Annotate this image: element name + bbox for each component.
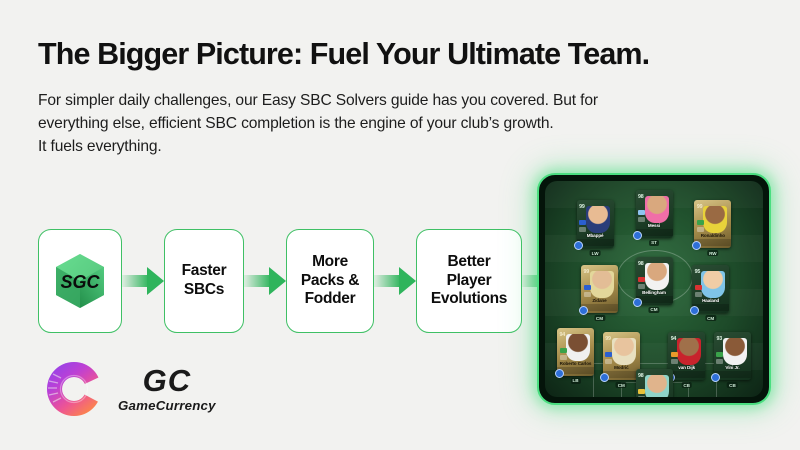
player-portrait bbox=[586, 206, 610, 233]
page-title: The Bigger Picture: Fuel Your Ultimate T… bbox=[38, 38, 768, 70]
gamecurrency-circle-logo bbox=[40, 355, 108, 423]
gc-initials: GC bbox=[143, 365, 192, 396]
player-portrait bbox=[612, 338, 636, 365]
club-badge-icon bbox=[579, 227, 586, 232]
club-badge-icon bbox=[697, 227, 704, 232]
player-card[interactable]: 93Vini Jr. bbox=[714, 332, 751, 380]
arrow-right-icon bbox=[374, 264, 416, 298]
nation-flag-icon bbox=[579, 220, 586, 225]
player-card[interactable]: 98Donnarumma bbox=[636, 369, 673, 397]
subtitle-line-3: It fuels everything. bbox=[38, 136, 738, 159]
chemistry-indicator-icon bbox=[633, 231, 642, 240]
player-card[interactable]: 95Haaland bbox=[692, 265, 729, 313]
club-badge-icon bbox=[638, 284, 645, 289]
nation-flag-icon bbox=[638, 277, 645, 282]
club-badge-icon bbox=[605, 359, 612, 364]
flow-step-line: SBCs bbox=[182, 281, 227, 300]
player-rating: 94 bbox=[560, 332, 566, 338]
flow-step-label: Better Player Evolutions bbox=[427, 253, 511, 309]
player-portrait bbox=[703, 206, 727, 233]
player-position-label: CB bbox=[727, 382, 738, 388]
ultimate-team-squad-screenshot: 99MbappéLW98MessiST99RonaldinhoRW99Zidan… bbox=[537, 173, 771, 405]
player-position-label: CM bbox=[648, 307, 659, 313]
svg-text:SGC: SGC bbox=[60, 272, 100, 292]
nation-flag-icon bbox=[716, 352, 723, 357]
player-portrait bbox=[723, 338, 747, 365]
player-rating: 95 bbox=[695, 269, 701, 275]
chemistry-indicator-icon bbox=[690, 306, 699, 315]
flow-step-label: Faster SBCs bbox=[178, 262, 231, 299]
flow-step-faster-sbcs: Faster SBCs bbox=[164, 229, 244, 333]
player-rating: 98 bbox=[638, 194, 644, 200]
player-name: Vini Jr. bbox=[714, 365, 751, 370]
player-name: Modrić bbox=[603, 365, 640, 370]
player-rating: 98 bbox=[638, 261, 644, 267]
player-position-label: LW bbox=[590, 250, 601, 256]
player-name: Bellingham bbox=[636, 290, 673, 295]
subtitle-line-1: For simpler daily challenges, our Easy S… bbox=[38, 90, 738, 113]
player-card[interactable]: 99Modrić bbox=[603, 332, 640, 380]
gamecurrency-logo: GC GameCurrency bbox=[40, 353, 240, 425]
nation-flag-icon bbox=[560, 348, 567, 353]
player-position-label: CB bbox=[681, 382, 692, 388]
subtitle-line-2: everything else, efficient SBC completio… bbox=[38, 113, 738, 136]
club-badge-icon bbox=[671, 359, 678, 364]
chemistry-indicator-icon bbox=[633, 298, 642, 307]
player-name: Roberto Carlos bbox=[557, 361, 594, 366]
player-position-label: CM bbox=[616, 382, 627, 388]
flow-step-line: Packs & bbox=[301, 272, 359, 291]
player-portrait bbox=[645, 263, 669, 290]
club-badge-icon bbox=[695, 292, 702, 297]
flow-step-line: Fodder bbox=[301, 290, 359, 309]
player-card[interactable]: 99Zidane bbox=[581, 265, 618, 313]
player-name: Ronaldinho bbox=[694, 233, 731, 238]
club-badge-icon bbox=[638, 217, 645, 222]
player-card[interactable]: 98Messi bbox=[636, 190, 673, 238]
player-portrait bbox=[645, 196, 669, 223]
player-rating: 99 bbox=[584, 269, 590, 275]
nation-flag-icon bbox=[695, 285, 702, 290]
player-position-label: RW bbox=[707, 250, 719, 256]
club-badge-icon bbox=[584, 292, 591, 297]
gamecurrency-wordmark: GC GameCurrency bbox=[118, 365, 216, 412]
nation-flag-icon bbox=[671, 352, 678, 357]
chemistry-indicator-icon bbox=[555, 369, 564, 378]
player-rating: 99 bbox=[697, 204, 703, 210]
club-badge-icon bbox=[716, 359, 723, 364]
arrow-right-icon bbox=[122, 264, 164, 298]
player-rating: 94 bbox=[671, 336, 677, 342]
club-badge-icon bbox=[638, 396, 645, 397]
player-name: Mbappé bbox=[577, 233, 614, 238]
player-card[interactable]: 94Roberto Carlos bbox=[557, 328, 594, 376]
player-name: van Dijk bbox=[668, 365, 705, 370]
flow-step-line: Player bbox=[431, 272, 507, 291]
player-rating: 93 bbox=[716, 336, 722, 342]
player-card[interactable]: 99Ronaldinho bbox=[694, 200, 731, 248]
player-portrait bbox=[590, 271, 614, 298]
flow-step-label: More Packs & Fodder bbox=[297, 253, 363, 309]
nation-flag-icon bbox=[638, 389, 645, 394]
player-name: Haaland bbox=[692, 298, 729, 303]
gc-brand-name: GameCurrency bbox=[118, 399, 216, 412]
subtitle-paragraph: For simpler daily challenges, our Easy S… bbox=[38, 90, 738, 158]
player-position-label: ST bbox=[649, 240, 659, 246]
player-rating: 99 bbox=[579, 204, 585, 210]
player-card[interactable]: 94van Dijk bbox=[668, 332, 705, 380]
flow-step-better-player-evolutions: Better Player Evolutions bbox=[416, 229, 522, 333]
player-portrait bbox=[677, 338, 701, 365]
player-rating: 99 bbox=[605, 336, 611, 342]
player-name: Messi bbox=[636, 223, 673, 228]
player-position-label: CM bbox=[705, 315, 716, 321]
player-position-label: CM bbox=[594, 315, 605, 321]
player-portrait bbox=[645, 375, 669, 397]
player-card[interactable]: 98Bellingham bbox=[636, 257, 673, 305]
process-flow-diagram: SGC Faster SBCs More Packs & Fodder Bett… bbox=[38, 229, 538, 333]
player-card[interactable]: 99Mbappé bbox=[577, 200, 614, 248]
sgc-hexagon-logo: SGC bbox=[49, 250, 111, 312]
player-position-label: LB bbox=[570, 378, 580, 384]
flow-step-line: Faster bbox=[182, 262, 227, 281]
flow-step-sgc-logo: SGC bbox=[38, 229, 122, 333]
chemistry-indicator-icon bbox=[579, 306, 588, 315]
flow-step-line: Evolutions bbox=[431, 290, 507, 309]
flow-step-more-packs-fodder: More Packs & Fodder bbox=[286, 229, 374, 333]
club-badge-icon bbox=[560, 355, 567, 360]
pitch-background: 99MbappéLW98MessiST99RonaldinhoRW99Zidan… bbox=[545, 181, 763, 397]
flow-step-line: Better bbox=[431, 253, 507, 272]
player-name: Zidane bbox=[581, 298, 618, 303]
chemistry-indicator-icon bbox=[711, 373, 720, 382]
player-portrait bbox=[566, 334, 590, 361]
nation-flag-icon bbox=[584, 285, 591, 290]
nation-flag-icon bbox=[697, 220, 704, 225]
flow-step-line: More bbox=[301, 253, 359, 272]
nation-flag-icon bbox=[605, 352, 612, 357]
nation-flag-icon bbox=[638, 210, 645, 215]
player-rating: 98 bbox=[638, 373, 644, 379]
player-portrait bbox=[701, 271, 725, 298]
arrow-right-icon bbox=[244, 264, 286, 298]
